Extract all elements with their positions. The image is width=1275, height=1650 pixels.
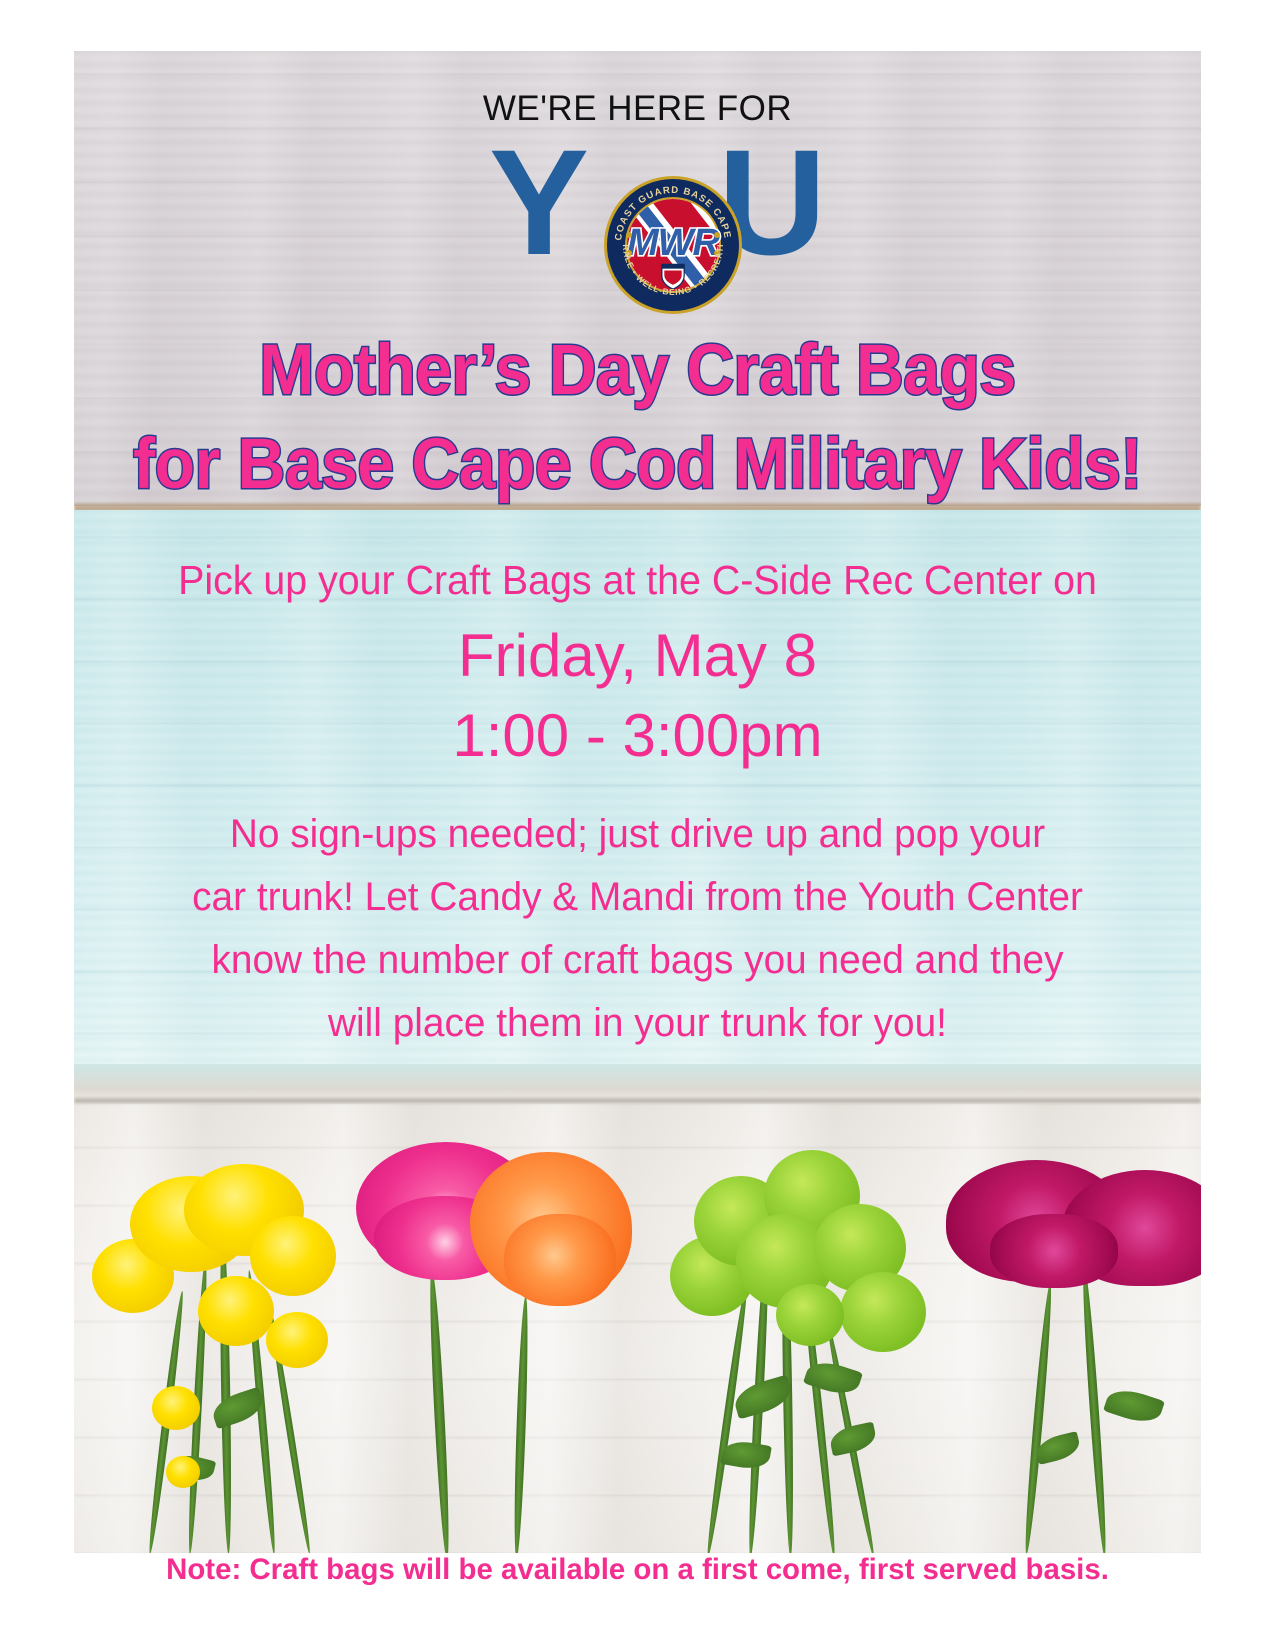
seal-center-text: MWR	[627, 222, 721, 264]
page-title-line-2: for Base Cape Cod Military Kids!	[113, 427, 1161, 503]
event-time-text: 1:00 - 3:00pm	[74, 701, 1201, 771]
photo-seam-line	[74, 1098, 1201, 1103]
instructions-line-2: car trunk! Let Candy & Mandi from the Yo…	[103, 866, 1173, 929]
pickup-instruction-text: Pick up your Craft Bags at the C-Side Re…	[97, 556, 1179, 604]
event-date-text: Friday, May 8	[74, 621, 1201, 691]
footer-note-text: Note: Craft bags will be available on a …	[13, 1551, 1263, 1589]
cg-mwr-seal-icon: MWR U.S. COAST GUARD BASE CAPE COD	[603, 175, 743, 315]
flyer-background-panel: WE'RE HERE FOR Y U	[74, 51, 1201, 1553]
instructions-line-1: No sign-ups needed; just drive up and po…	[103, 803, 1173, 866]
you-letter-y: Y	[489, 127, 589, 277]
instructions-paragraph: No sign-ups needed; just drive up and po…	[103, 803, 1173, 1055]
instructions-line-3: know the number of craft bags you need a…	[103, 929, 1173, 992]
flowers-photo	[74, 1064, 1201, 1553]
photo-top-band	[74, 1064, 1201, 1100]
page-title-line-1: Mother’s Day Craft Bags	[113, 333, 1161, 409]
flyer-page: WE'RE HERE FOR Y U	[0, 0, 1275, 1650]
tagline-text: WE'RE HERE FOR	[74, 89, 1201, 129]
instructions-line-4: will place them in your trunk for you!	[103, 992, 1173, 1055]
